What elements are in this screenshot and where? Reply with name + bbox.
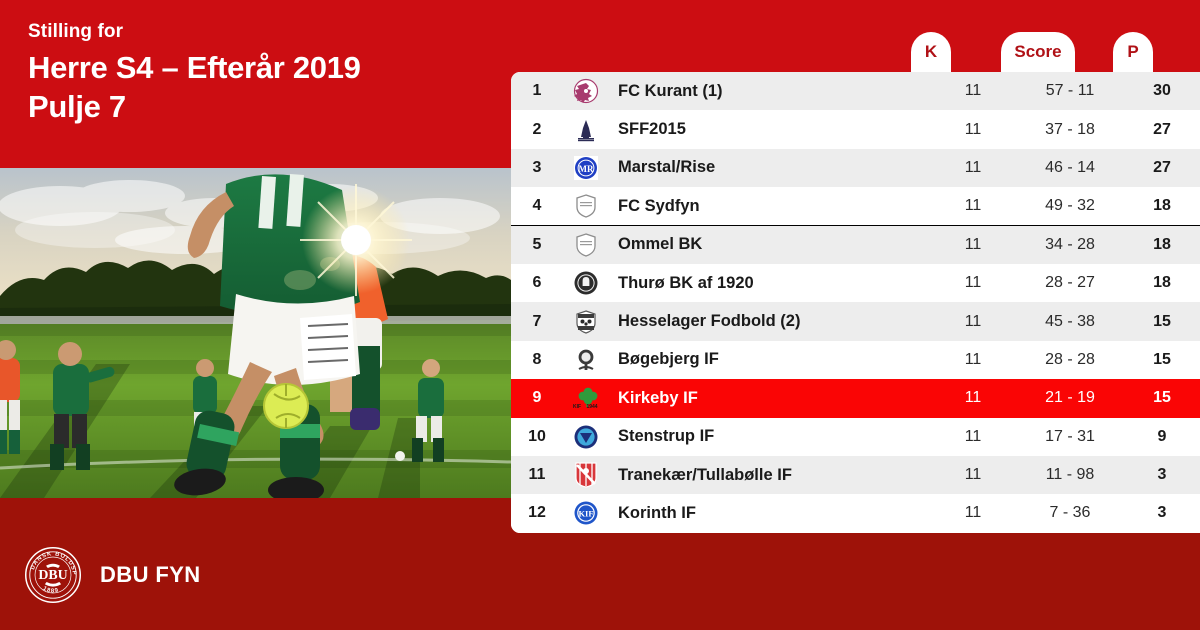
- row-position: 2: [511, 121, 563, 139]
- row-position: 8: [511, 351, 563, 369]
- row-matches: 11: [930, 121, 1016, 139]
- row-points: 3: [1124, 466, 1200, 484]
- standings-table: 1 FC Kurant (1) 11 57 - 11 30 2: [511, 72, 1200, 533]
- row-team-name: FC Sydfyn: [609, 197, 930, 216]
- svg-text:1944: 1944: [586, 404, 597, 410]
- row-points: 18: [1124, 197, 1200, 215]
- row-position: 11: [511, 466, 563, 484]
- row-points: 15: [1124, 389, 1200, 407]
- column-header-k[interactable]: K: [911, 32, 951, 72]
- row-position: 4: [511, 197, 563, 215]
- table-row[interactable]: 3 MR Marstal/Rise 11 46 - 14 27: [511, 149, 1200, 187]
- table-row[interactable]: 5 Ommel BK 11 34 - 28 18: [511, 226, 1200, 264]
- row-score: 17 - 31: [1016, 428, 1124, 446]
- row-matches: 11: [930, 159, 1016, 177]
- fc-sydfyn-logo: [563, 193, 609, 219]
- column-header-score[interactable]: Score: [1001, 32, 1075, 72]
- row-position: 9: [511, 389, 563, 407]
- row-team-name: Tranekær/Tullabølle IF: [609, 466, 930, 485]
- row-matches: 11: [930, 274, 1016, 292]
- page-title-line1: Herre S4 – Efterår 2019: [28, 48, 498, 87]
- row-points: 15: [1124, 351, 1200, 369]
- table-row[interactable]: 8 Bøgebjerg IF 11 28 - 28 15: [511, 341, 1200, 379]
- table-row-highlighted[interactable]: 9 KIF 1944 Kirkeby IF 11 21 - 19: [511, 379, 1200, 417]
- row-score: 11 - 98: [1016, 466, 1124, 484]
- table-row[interactable]: 1 FC Kurant (1) 11 57 - 11 30: [511, 72, 1200, 110]
- table-row[interactable]: 7 Hesselager Fodbold (2) 11 45 - 38 15: [511, 302, 1200, 340]
- row-team-name: Ommel BK: [609, 235, 930, 254]
- row-team-name: Stenstrup IF: [609, 427, 930, 446]
- row-score: 28 - 27: [1016, 274, 1124, 292]
- svg-text:MR: MR: [579, 164, 594, 174]
- row-points: 3: [1124, 504, 1200, 522]
- row-team-name: Hesselager Fodbold (2): [609, 312, 930, 331]
- row-points: 9: [1124, 428, 1200, 446]
- row-matches: 11: [930, 82, 1016, 100]
- svg-text:KIF: KIF: [578, 509, 593, 519]
- row-score: 34 - 28: [1016, 236, 1124, 254]
- stenstrup-logo: [563, 424, 609, 450]
- svg-text:DBU: DBU: [38, 568, 67, 583]
- row-matches: 11: [930, 236, 1016, 254]
- ommel-bk-logo: [563, 232, 609, 258]
- sff2015-logo: [563, 117, 609, 143]
- svg-text:KIF: KIF: [573, 404, 581, 410]
- kicker-text: Stilling for: [28, 20, 498, 44]
- boegebjerg-logo: [563, 347, 609, 373]
- row-matches: 11: [930, 466, 1016, 484]
- fc-kurant-logo: [563, 78, 609, 104]
- kirkeby-if-logo: KIF 1944: [563, 385, 609, 411]
- row-score: 28 - 28: [1016, 351, 1124, 369]
- row-team-name: Marstal/Rise: [609, 158, 930, 177]
- tranekaer-logo: [563, 462, 609, 488]
- headline-block: Stilling for Herre S4 – Efterår 2019 Pul…: [28, 20, 498, 126]
- row-position: 1: [511, 82, 563, 100]
- row-position: 10: [511, 428, 563, 446]
- marstal-rise-logo: MR: [563, 155, 609, 181]
- row-matches: 11: [930, 389, 1016, 407]
- row-matches: 11: [930, 197, 1016, 215]
- page-title-line2: Pulje 7: [28, 87, 498, 126]
- row-score: 21 - 19: [1016, 389, 1124, 407]
- footer-branding: DANSK BOLDSPIL UNION 1889 DBU DBU FYN: [24, 546, 201, 604]
- row-score: 7 - 36: [1016, 504, 1124, 522]
- hesselager-logo: [563, 309, 609, 335]
- table-row[interactable]: 11 Tranekær/Tullabølle IF 11 11 - 98 3: [511, 456, 1200, 494]
- standings-graphic: Stilling for Herre S4 – Efterår 2019 Pul…: [0, 0, 1200, 630]
- row-position: 6: [511, 274, 563, 292]
- row-score: 45 - 38: [1016, 313, 1124, 331]
- football-photo-illustration: [0, 168, 511, 498]
- row-position: 7: [511, 313, 563, 331]
- table-row[interactable]: 6 Thurø BK af 1920 11 28 - 27 18: [511, 264, 1200, 302]
- organisation-name: DBU FYN: [100, 562, 201, 588]
- row-points: 30: [1124, 82, 1200, 100]
- dbu-seal-logo: DANSK BOLDSPIL UNION 1889 DBU: [24, 546, 82, 604]
- korinth-if-logo: KIF: [563, 500, 609, 526]
- row-position: 12: [511, 504, 563, 522]
- row-matches: 11: [930, 351, 1016, 369]
- row-score: 57 - 11: [1016, 82, 1124, 100]
- row-score: 46 - 14: [1016, 159, 1124, 177]
- row-position: 5: [511, 236, 563, 254]
- row-matches: 11: [930, 428, 1016, 446]
- row-team-name: SFF2015: [609, 120, 930, 139]
- row-matches: 11: [930, 504, 1016, 522]
- table-row[interactable]: 10 Stenstrup IF 11 17 - 31 9: [511, 418, 1200, 456]
- row-matches: 11: [930, 313, 1016, 331]
- column-header-p[interactable]: P: [1113, 32, 1153, 72]
- row-team-name: FC Kurant (1): [609, 82, 930, 101]
- table-row[interactable]: 12 KIF Korinth IF 11 7 - 36 3: [511, 494, 1200, 532]
- svg-text:1889: 1889: [42, 586, 60, 595]
- row-team-name: Bøgebjerg IF: [609, 350, 930, 369]
- thuroe-bk-logo: [563, 270, 609, 296]
- row-points: 18: [1124, 236, 1200, 254]
- row-points: 27: [1124, 121, 1200, 139]
- row-points: 15: [1124, 313, 1200, 331]
- row-team-name: Korinth IF: [609, 504, 930, 523]
- football-photo: [0, 168, 511, 498]
- row-position: 3: [511, 159, 563, 177]
- table-row[interactable]: 4 FC Sydfyn 11 49 - 32 18: [511, 187, 1200, 225]
- table-header-badges: K Score P: [511, 0, 1200, 72]
- table-row[interactable]: 2 SFF2015 11 37 - 18 27: [511, 110, 1200, 148]
- row-score: 49 - 32: [1016, 197, 1124, 215]
- row-team-name: Kirkeby IF: [609, 389, 930, 408]
- row-score: 37 - 18: [1016, 121, 1124, 139]
- row-points: 18: [1124, 274, 1200, 292]
- row-team-name: Thurø BK af 1920: [609, 274, 930, 293]
- row-points: 27: [1124, 159, 1200, 177]
